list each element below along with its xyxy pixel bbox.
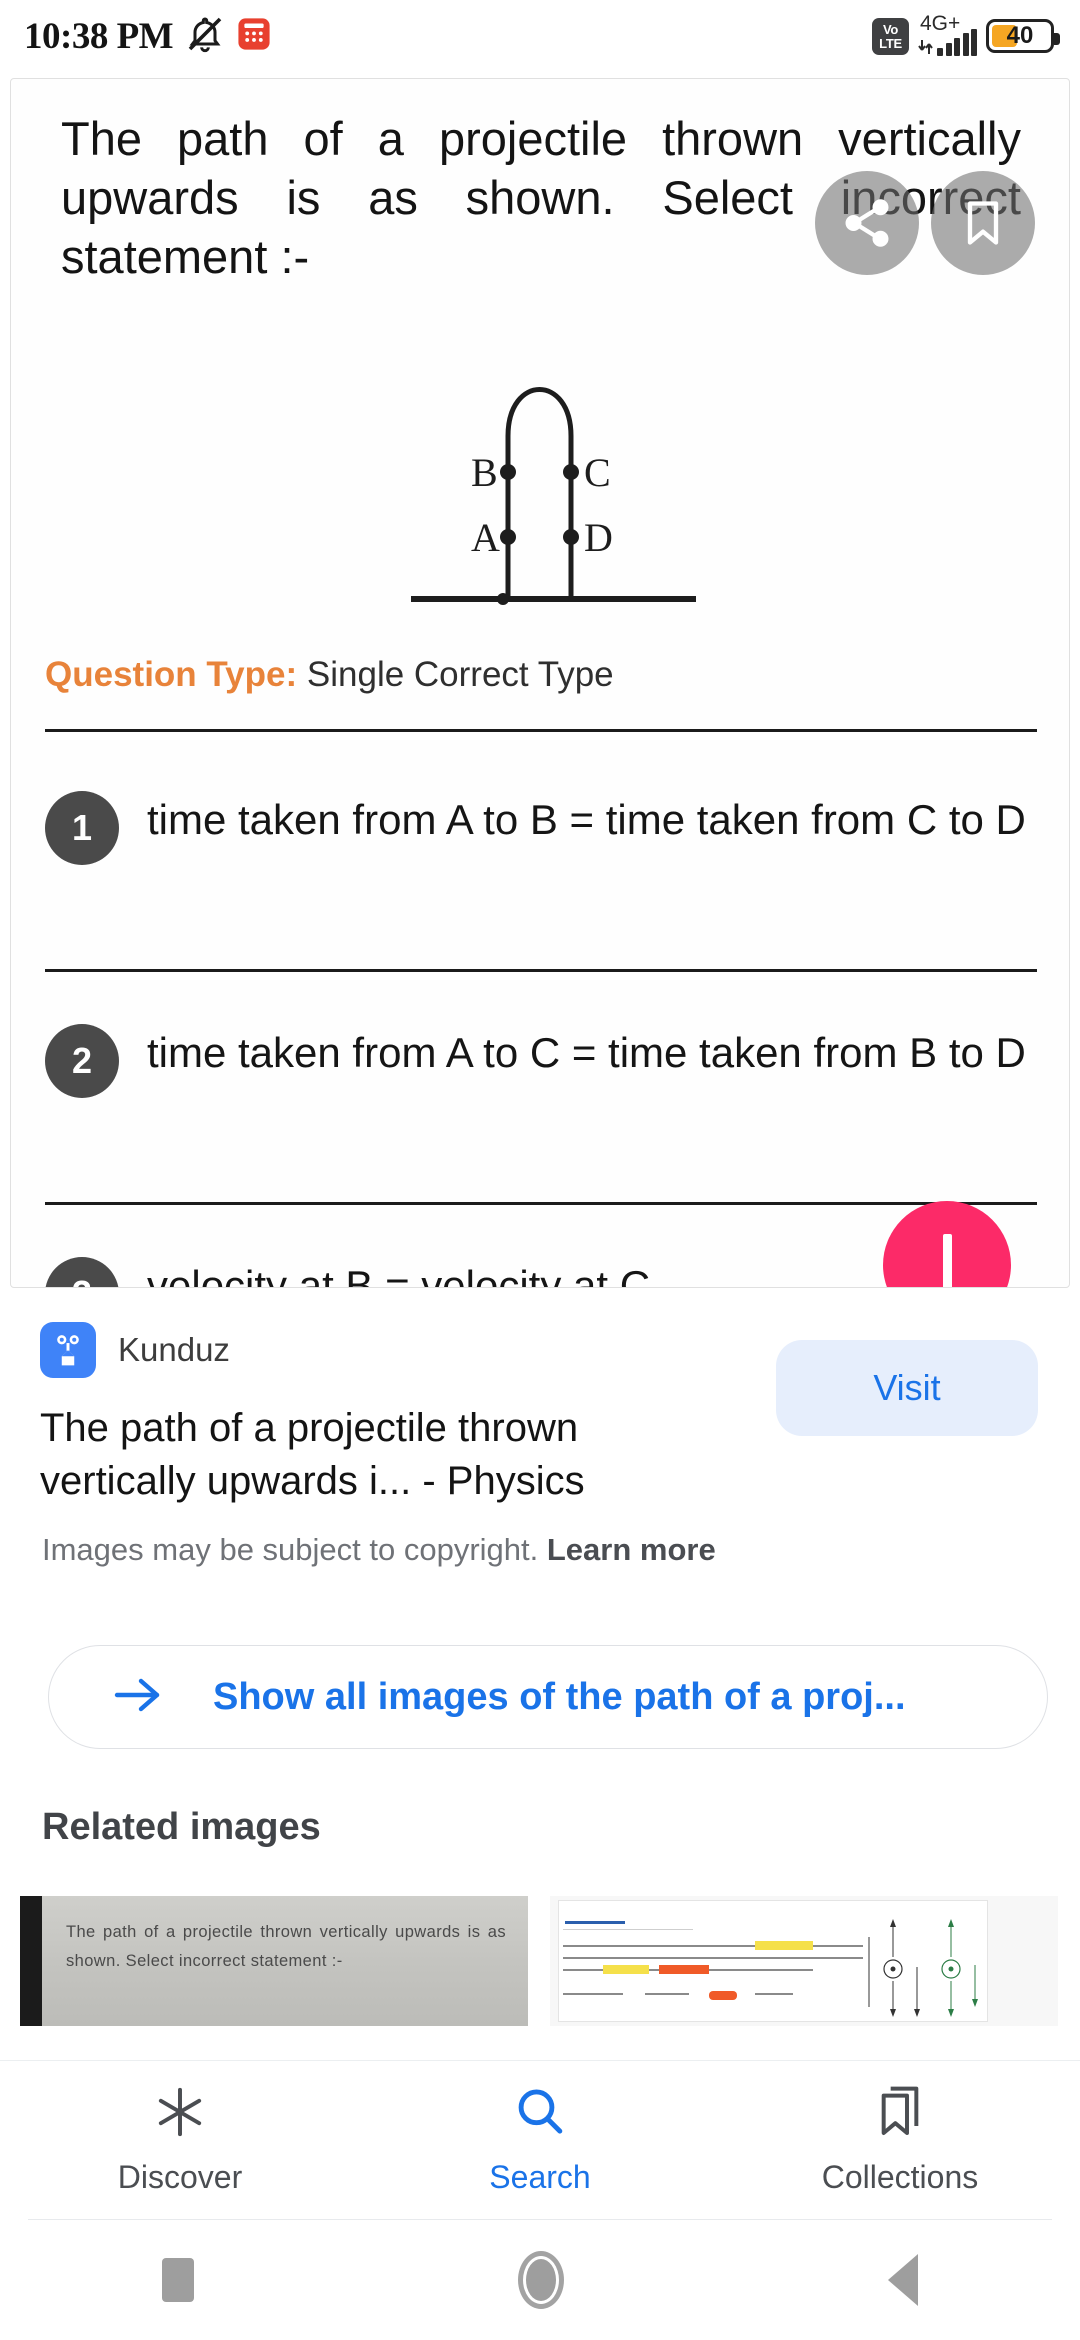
option-row-2[interactable]: 2 time taken from A to C = time taken fr… (45, 1024, 1045, 1098)
calculator-app-icon (237, 17, 271, 56)
copyright-notice: Images may be subject to copyright. Lear… (42, 1532, 716, 1568)
svg-text:A: A (471, 515, 500, 560)
bookmark-icon (957, 197, 1009, 249)
status-bar-right: VoLTE 4G+ 40 (872, 16, 1054, 56)
option-text: time taken from A to C = time taken from… (147, 1024, 1027, 1080)
share-button[interactable] (815, 171, 919, 275)
fab-icon (943, 1234, 952, 1288)
option-row-1[interactable]: 1 time taken from A to B = time taken fr… (45, 791, 1045, 865)
question-type-row: Question Type: Single Correct Type (45, 654, 614, 696)
option-number: 3 (45, 1257, 119, 1288)
svg-text:C: C (584, 450, 611, 495)
image-action-buttons (815, 171, 1035, 275)
back-triangle-icon[interactable] (888, 2254, 918, 2306)
related-thumbnail[interactable]: The path of a projectile thrown vertical… (20, 1896, 528, 2026)
status-bar: 10:38 PM (0, 0, 1080, 72)
copyright-text: Images may be subject to copyright. (42, 1532, 538, 1567)
source-title[interactable]: The path of a projectile thrown vertical… (40, 1402, 690, 1508)
collections-bookmark-icon (872, 2084, 928, 2145)
related-images-strip[interactable]: The path of a projectile thrown vertical… (20, 1896, 1080, 2026)
nav-item-collections[interactable]: Collections (800, 2084, 1000, 2196)
data-transfer-icon (918, 38, 934, 56)
save-button[interactable] (931, 171, 1035, 275)
floating-action-button[interactable] (883, 1201, 1011, 1288)
related-images-heading: Related images (42, 1806, 321, 1849)
volte-icon: VoLTE (872, 18, 909, 55)
system-navigation-bar (0, 2220, 1080, 2340)
nav-label-collections: Collections (822, 2159, 979, 2196)
projectile-diagram: B C A D (11, 344, 1070, 619)
show-all-images-button[interactable]: Show all images of the path of a proj... (48, 1645, 1048, 1749)
share-icon (840, 196, 894, 250)
related-thumbnail[interactable] (550, 1896, 1058, 2026)
bottom-navigation: Discover Search Collections (0, 2060, 1080, 2220)
network-type-label: 4G+ (920, 13, 960, 34)
asterisk-icon (152, 2084, 208, 2145)
option-number: 2 (45, 1024, 119, 1098)
phone-screen: 10:38 PM (0, 0, 1080, 2340)
option-number: 1 (45, 791, 119, 865)
status-bar-clock: 10:38 PM (24, 15, 173, 58)
svg-text:D: D (584, 515, 613, 560)
home-circle-icon[interactable] (518, 2251, 564, 2309)
source-name: Kunduz (118, 1331, 230, 1369)
kunduz-favicon-icon (40, 1322, 96, 1378)
option-text: time taken from A to B = time taken from… (147, 791, 1027, 847)
nav-item-discover[interactable]: Discover (80, 2084, 280, 2196)
network-indicator: 4G+ (918, 16, 977, 56)
bell-muted-icon (185, 14, 225, 59)
nav-label-discover: Discover (118, 2159, 242, 2196)
divider (45, 1202, 1037, 1205)
battery-icon: 40 (986, 19, 1054, 53)
learn-more-link[interactable]: Learn more (547, 1532, 716, 1567)
question-type-value: Single Correct Type (307, 655, 614, 694)
image-preview-card[interactable]: The path of a projectile thrown vertical… (10, 78, 1070, 1288)
battery-percent-label: 40 (989, 24, 1051, 48)
divider (45, 969, 1037, 972)
divider (45, 729, 1037, 732)
arrow-right-icon (113, 1675, 165, 1720)
svg-text:B: B (471, 450, 498, 495)
visit-button[interactable]: Visit (776, 1340, 1038, 1436)
nav-label-search: Search (489, 2159, 590, 2196)
show-all-images-label: Show all images of the path of a proj... (213, 1676, 906, 1719)
thumbnail-document (558, 1900, 988, 2022)
question-type-label: Question Type: (45, 655, 297, 694)
source-row[interactable]: Kunduz (40, 1322, 230, 1378)
search-icon (512, 2084, 568, 2145)
nav-item-search[interactable]: Search (440, 2084, 640, 2196)
recents-square-icon[interactable] (162, 2258, 194, 2302)
related-thumbnail-text: The path of a projectile thrown vertical… (66, 1918, 506, 1976)
status-bar-left: 10:38 PM (24, 14, 271, 59)
